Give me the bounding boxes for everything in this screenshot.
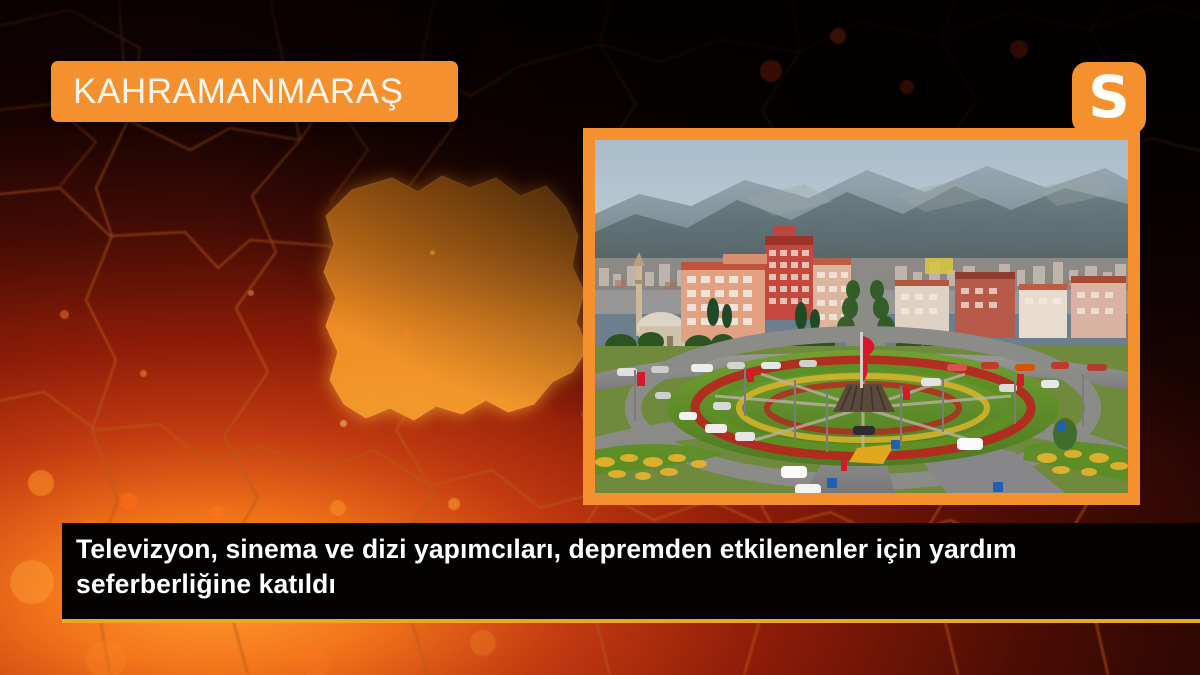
province-badge: KAHRAMANMARAŞ [51,61,458,122]
headline-banner: Televizyon, sinema ve dizi yapımcıları, … [62,523,1200,623]
news-card: KAHRAMANMARAŞ S [0,0,1200,675]
site-logo-letter: S [1088,68,1130,126]
photo-frame [583,128,1140,505]
news-photo [595,140,1128,493]
headline-text: Televizyon, sinema ve dizi yapımcıları, … [76,532,1056,602]
site-logo[interactable]: S [1072,62,1146,134]
province-name: KAHRAMANMARAŞ [73,74,404,109]
